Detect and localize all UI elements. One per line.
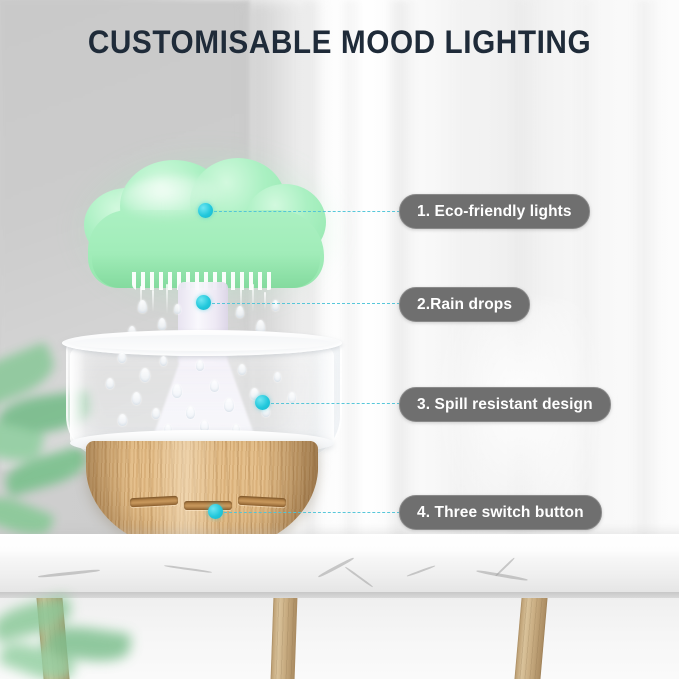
glass-rim-inner bbox=[72, 335, 332, 351]
callout-line-2 bbox=[212, 303, 400, 304]
callout-dot-3[interactable] bbox=[255, 395, 270, 410]
callout-line-4 bbox=[224, 512, 400, 513]
glass-highlight-left bbox=[70, 348, 86, 446]
callout-line-3 bbox=[271, 403, 400, 404]
callout-dot-1[interactable] bbox=[198, 203, 213, 218]
cloud-light-module bbox=[84, 158, 328, 288]
table-leg-center bbox=[271, 598, 298, 679]
callout-label-1[interactable]: 1. Eco-friendly lights bbox=[399, 194, 590, 229]
callout-line-1 bbox=[214, 211, 400, 212]
product-infographic: CUSTOMISABLE MOOD LIGHTING 1. Eco-friend… bbox=[0, 0, 679, 679]
glass-highlight-right bbox=[316, 348, 334, 446]
callout-label-2[interactable]: 2.Rain drops bbox=[399, 287, 530, 322]
page-title: CUSTOMISABLE MOOD LIGHTING bbox=[24, 24, 655, 61]
callout-label-4[interactable]: 4. Three switch button bbox=[399, 495, 602, 530]
callout-dot-2[interactable] bbox=[196, 295, 211, 310]
plant-under-table bbox=[0, 600, 170, 679]
callout-label-3[interactable]: 3. Spill resistant design bbox=[399, 387, 611, 422]
callout-dot-4[interactable] bbox=[208, 504, 223, 519]
